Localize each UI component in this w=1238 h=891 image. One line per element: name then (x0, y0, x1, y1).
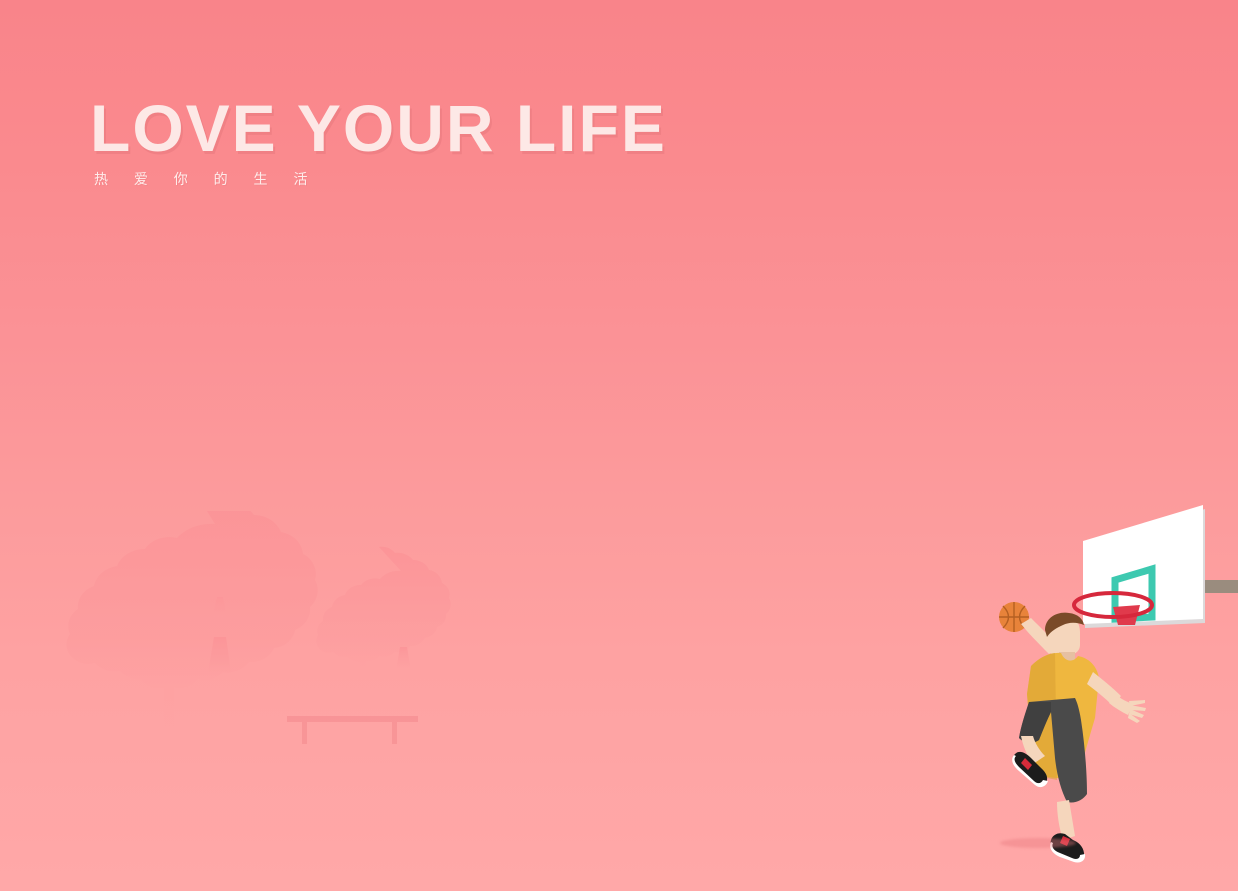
basketball-player-graphic (985, 590, 1165, 865)
poster-canvas: LOVE YOUR LIFE 热 爱 你 的 生 活 (0, 0, 1238, 891)
player-ground-shadow (1000, 838, 1076, 848)
player-hand-icon (1128, 700, 1146, 723)
page-subtitle: 热 爱 你 的 生 活 (94, 170, 667, 188)
page-title: LOVE YOUR LIFE (90, 92, 667, 164)
small-tree-silhouette (316, 547, 450, 684)
park-bench-silhouette (287, 716, 418, 744)
large-tree-silhouette (67, 511, 318, 726)
headline-block: LOVE YOUR LIFE 热 爱 你 的 生 活 (90, 92, 667, 188)
